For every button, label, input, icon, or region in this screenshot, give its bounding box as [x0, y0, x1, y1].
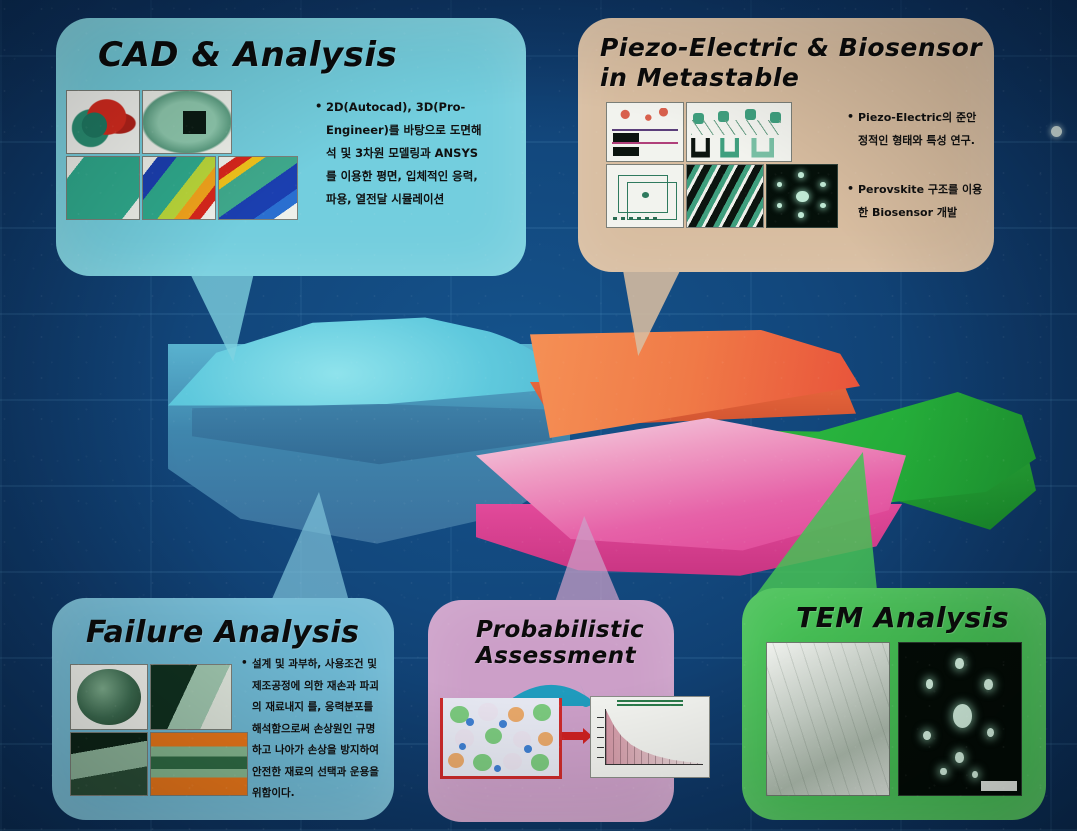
panel-prob-title-line1: Probabilistic: [476, 618, 644, 644]
fea-mesh-green-thumb: [66, 156, 140, 220]
red-arrow-icon: [562, 732, 584, 740]
particle-beaker-icon: [440, 698, 562, 779]
gear-tooth-fracture-thumb: [70, 732, 148, 796]
perovskite-lattice-thumb: [606, 164, 684, 228]
tem-scale-label: [981, 781, 1017, 791]
piezo-bullet-1: Piezo-Electric의 준안정적인 형태와 특성 연구.: [858, 106, 986, 152]
research-poster: CAD & Analysis 2D(Autocad), 3D(Pro-Engin…: [0, 0, 1077, 831]
thermal-infrared-image-thumb: [150, 732, 248, 796]
energy-band-diagram-thumb: [686, 102, 792, 162]
fea-stress-contour-2-thumb: [218, 156, 298, 220]
thin-film-stripes-thumb: [686, 164, 764, 228]
panel-tem-title: TEM Analysis: [796, 602, 1009, 633]
panel-failure-thumbnails: [70, 664, 248, 798]
fea-stress-contour-1-thumb: [142, 156, 216, 220]
panel-probabilistic-assessment[interactable]: Probabilistic Assessment: [428, 600, 674, 822]
panel-piezo-title-line2: in Metastable: [600, 64, 799, 92]
panel-piezo-bullets: Piezo-Electric의 준안정적인 형태와 특성 연구. Perovsk…: [846, 106, 986, 230]
piezo-bullet-2: Perovskite 구조를 이용한 Biosensor 개발: [858, 178, 986, 224]
panel-tem-analysis[interactable]: TEM Analysis: [742, 588, 1046, 820]
failure-bullet-1: 설계 및 과부하, 사용조건 및 제조공정에 의한 재손과 파괴의 재료내지 를…: [252, 654, 380, 805]
panel-cad-thumbnails: [66, 90, 298, 222]
panel-failure-bullets: 설계 및 과부하, 사용조건 및 제조공정에 의한 재손과 파괴의 재료내지 를…: [240, 654, 380, 811]
panel-piezo-title-line1: Piezo-Electric & Biosensor: [600, 34, 982, 62]
panel-cad-bullets: 2D(Autocad), 3D(Pro-Engineer)를 바탕으로 도면해석…: [314, 96, 486, 217]
panel-cad-title: CAD & Analysis: [98, 36, 397, 74]
cad-bullet-1: 2D(Autocad), 3D(Pro-Engineer)를 바탕으로 도면해석…: [326, 96, 486, 211]
lens-flare-dot: [1051, 126, 1062, 137]
panel-cad-analysis[interactable]: CAD & Analysis 2D(Autocad), 3D(Pro-Engin…: [56, 18, 526, 276]
exploded-3d-pie-chart: [168, 296, 888, 596]
fracture-surface-circular-thumb: [70, 664, 148, 730]
panel-prob-title-line2: Assessment: [476, 644, 636, 670]
electron-diffraction-pattern-thumb: [766, 164, 838, 228]
selected-area-diffraction-pattern-thumb: [898, 642, 1022, 796]
probability-distribution-chart: [590, 696, 710, 778]
panel-failure-title: Failure Analysis: [86, 616, 359, 650]
cad-model-red-render-thumb: [66, 90, 140, 154]
panel-piezo-biosensor[interactable]: Piezo-Electric & Biosensor in Metastable: [578, 18, 994, 272]
panel-piezo-thumbnails: [606, 102, 838, 228]
cad-model-camera-body-thumb: [142, 90, 232, 154]
tem-bright-field-micrograph-thumb: [766, 642, 890, 796]
hysteresis-plot-thumb: [606, 102, 684, 162]
panel-failure-analysis[interactable]: Failure Analysis 설계 및 과부하, 사용조건 및 제조공정에 …: [52, 598, 394, 820]
fracture-surface-sem-thumb: [150, 664, 232, 730]
panel-tem-thumbnails: [766, 642, 1022, 796]
